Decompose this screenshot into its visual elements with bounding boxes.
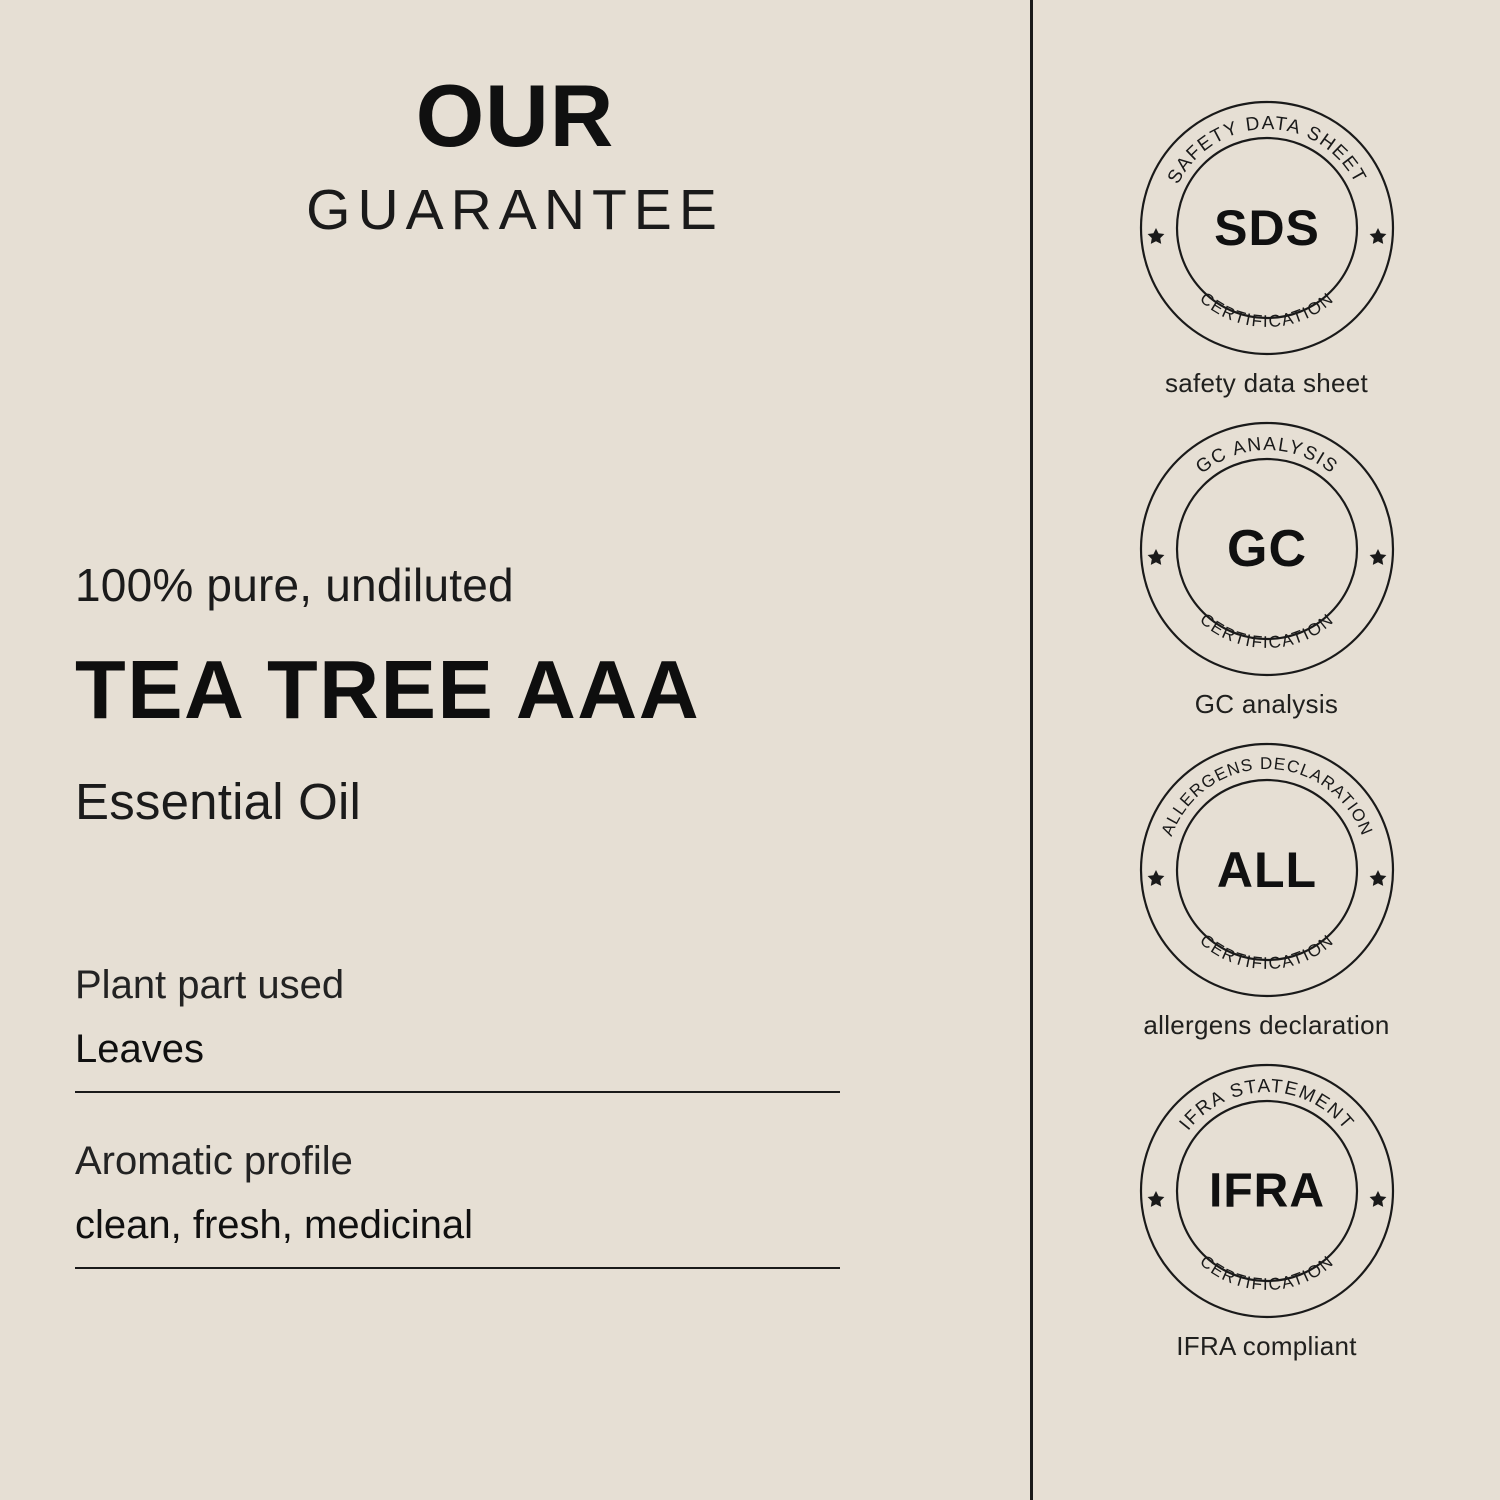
star-icon-right: [1369, 549, 1386, 565]
badge-caption-gc: GC analysis: [1195, 689, 1338, 720]
seal-arc-bottom-text: CERTIFICATION: [1196, 289, 1337, 332]
star-icon-left: [1147, 870, 1164, 886]
spec-label-aromatic-profile: Aromatic profile: [75, 1141, 840, 1181]
star-icon-left: [1147, 549, 1164, 565]
product-name: TEA TREE AAA: [75, 648, 875, 731]
product-type: Essential Oil: [75, 776, 875, 827]
star-icon-right: [1369, 870, 1386, 886]
star-icon-left: [1147, 228, 1164, 244]
svg-text:CERTIFICATION: CERTIFICATION: [1196, 1252, 1337, 1295]
certification-seal-icon: SAFETY DATA SHEET CERTIFICATION SDS: [1139, 100, 1395, 356]
badge-item-allergens: ALLERGENS DECLARATION CERTIFICATION ALL …: [1033, 742, 1500, 1041]
certification-badge-column: SAFETY DATA SHEET CERTIFICATION SDS safe…: [1033, 0, 1500, 1500]
spec-value-plant-part: Leaves: [75, 1029, 840, 1069]
svg-text:CERTIFICATION: CERTIFICATION: [1196, 610, 1337, 653]
page-title-block: OUR GUARANTEE: [0, 72, 1030, 239]
svg-text:CERTIFICATION: CERTIFICATION: [1196, 289, 1337, 332]
product-purity-line: 100% pure, undiluted: [75, 562, 875, 608]
seal-arc-bottom-text: CERTIFICATION: [1196, 931, 1337, 974]
svg-text:ALLERGENS DECLARATION: ALLERGENS DECLARATION: [1157, 754, 1376, 839]
seal-arc-bottom-text: CERTIFICATION: [1196, 610, 1337, 653]
left-content-column: OUR GUARANTEE 100% pure, undiluted TEA T…: [0, 0, 1030, 1500]
certification-seal-icon: GC ANALYSIS CERTIFICATION GC: [1139, 421, 1395, 677]
star-icon-right: [1369, 1191, 1386, 1207]
badge-caption-allergens: allergens declaration: [1143, 1010, 1389, 1041]
seal-arc-top-text: IFRA STATEMENT: [1175, 1076, 1358, 1134]
page-title-primary: OUR: [0, 72, 1030, 160]
spec-row-plant-part: Plant part used Leaves: [75, 965, 840, 1093]
badge-item-ifra: IFRA STATEMENT CERTIFICATION IFRA IFRA c…: [1033, 1063, 1500, 1362]
seal-center-text: GC: [1227, 520, 1307, 578]
spec-label-plant-part: Plant part used: [75, 965, 840, 1005]
guarantee-infographic: OUR GUARANTEE 100% pure, undiluted TEA T…: [0, 0, 1500, 1500]
certification-seal-icon: ALLERGENS DECLARATION CERTIFICATION ALL: [1139, 742, 1395, 998]
spec-value-aromatic-profile: clean, fresh, medicinal: [75, 1205, 840, 1245]
svg-text:IFRA STATEMENT: IFRA STATEMENT: [1175, 1076, 1358, 1134]
svg-text:CERTIFICATION: CERTIFICATION: [1196, 931, 1337, 974]
product-heading-block: 100% pure, undiluted TEA TREE AAA Essent…: [75, 562, 875, 827]
seal-arc-top-text: GC ANALYSIS: [1192, 434, 1342, 478]
star-icon-right: [1369, 228, 1386, 244]
seal-center-text: IFRA: [1209, 1165, 1325, 1218]
certification-seal-icon: IFRA STATEMENT CERTIFICATION IFRA: [1139, 1063, 1395, 1319]
star-icon-left: [1147, 1191, 1164, 1207]
seal-arc-bottom-text: CERTIFICATION: [1196, 1252, 1337, 1295]
spec-divider: [75, 1267, 840, 1269]
spec-list: Plant part used Leaves Aromatic profile …: [75, 965, 840, 1269]
seal-arc-top-text: ALLERGENS DECLARATION: [1157, 754, 1376, 839]
spec-row-aromatic-profile: Aromatic profile clean, fresh, medicinal: [75, 1141, 840, 1269]
svg-text:GC ANALYSIS: GC ANALYSIS: [1192, 434, 1342, 478]
badge-item-gc: GC ANALYSIS CERTIFICATION GC GC analysis: [1033, 421, 1500, 720]
seal-center-text: SDS: [1214, 200, 1320, 256]
seal-center-text: ALL: [1216, 842, 1316, 898]
badge-caption-sds: safety data sheet: [1165, 368, 1368, 399]
page-title-secondary: GUARANTEE: [0, 182, 1030, 239]
badge-item-sds: SAFETY DATA SHEET CERTIFICATION SDS safe…: [1033, 100, 1500, 399]
spec-divider: [75, 1091, 840, 1093]
badge-caption-ifra: IFRA compliant: [1176, 1331, 1357, 1362]
